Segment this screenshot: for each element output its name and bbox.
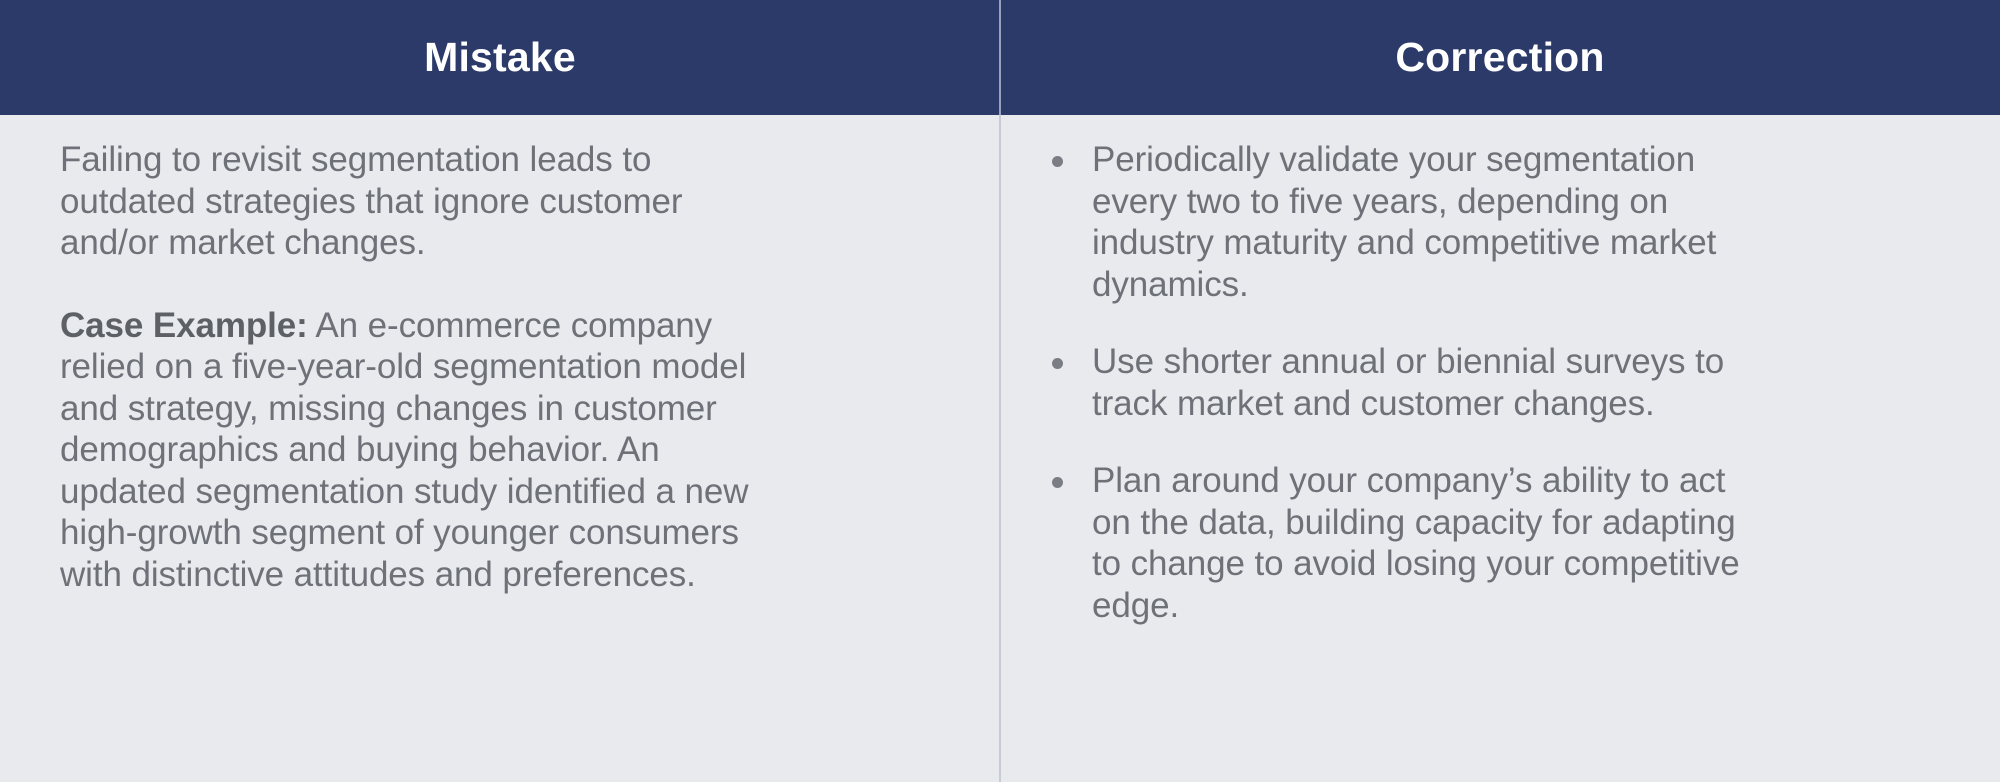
table-header-row: Mistake Correction — [0, 0, 2000, 115]
cell-correction: Periodically validate your segmentation … — [1000, 115, 2000, 782]
list-item: Plan around your company’s ability to ac… — [1050, 460, 1750, 626]
mistake-paragraph-2: Case Example: An e-commerce company reli… — [60, 305, 760, 596]
header-column-divider — [999, 0, 1001, 115]
body-column-divider — [999, 115, 1001, 782]
column-header-correction: Correction — [1000, 0, 2000, 115]
list-item-text: Plan around your company’s ability to ac… — [1092, 461, 1740, 625]
bullet-dot-icon — [1052, 477, 1063, 488]
table-body-row: Failing to revisit segmentation leads to… — [0, 115, 2000, 782]
list-item: Use shorter annual or biennial surveys t… — [1050, 341, 1750, 424]
comparison-table: Mistake Correction Failing to revisit se… — [0, 0, 2000, 782]
list-item: Periodically validate your segmentation … — [1050, 139, 1750, 305]
list-item-text: Use shorter annual or biennial surveys t… — [1092, 342, 1724, 423]
cell-mistake: Failing to revisit segmentation leads to… — [0, 115, 1000, 782]
bullet-dot-icon — [1052, 358, 1063, 369]
mistake-paragraph-1-text: Failing to revisit segmentation leads to… — [60, 140, 682, 262]
column-header-mistake: Mistake — [0, 0, 1000, 115]
bullet-dot-icon — [1052, 156, 1063, 167]
list-item-text: Periodically validate your segmentation … — [1092, 140, 1716, 304]
correction-bullet-list: Periodically validate your segmentation … — [1050, 139, 1750, 626]
mistake-paragraph-1: Failing to revisit segmentation leads to… — [60, 139, 760, 264]
case-example-text: An e-commerce company relied on a five-y… — [60, 306, 748, 594]
case-example-label: Case Example: — [60, 306, 308, 345]
